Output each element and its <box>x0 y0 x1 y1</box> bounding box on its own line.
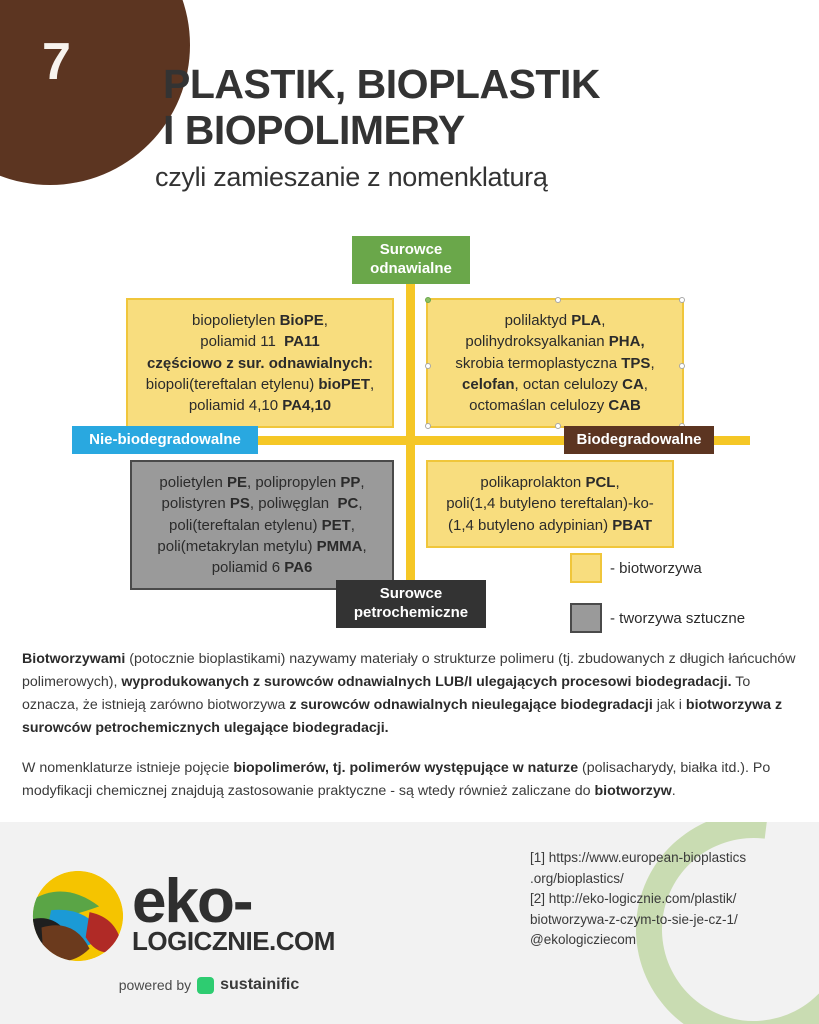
diagram-legend: - biotworzywa - tworzywa sztuczne <box>570 553 745 653</box>
page-title: PLASTIK, BIOPLASTIK I BIOPOLIMERY <box>163 62 793 154</box>
quadrant-card-top-right[interactable]: polilaktyd PLA,polihydroksyalkanian PHA,… <box>426 298 684 428</box>
legend-label-bioplastics: - biotworzywa <box>610 560 702 577</box>
corner-accent-shape <box>0 0 190 185</box>
axis-label-petrochemical-line-2: petrochemiczne <box>354 604 468 623</box>
powered-by-brand: sustainific <box>220 976 299 994</box>
selection-handle-mid-right-icon[interactable] <box>679 363 685 369</box>
axis-label-renewable-line-1: Surowce <box>370 241 452 260</box>
page-subtitle: czyli zamieszanie z nomenklaturą <box>155 162 793 193</box>
vertical-axis-line <box>406 278 415 628</box>
axis-label-renewable-line-2: odnawialne <box>370 260 452 279</box>
reference-line: .org/bioplastics/ <box>530 869 800 890</box>
legend-label-plastics: - tworzywa sztuczne <box>610 610 745 627</box>
reference-line: [1] https://www.european-bioplastics <box>530 848 800 869</box>
page-title-line-2: I BIOPOLIMERY <box>163 108 793 154</box>
selection-handle-mid-left-icon[interactable] <box>425 363 431 369</box>
body-paragraph-2: W nomenklaturze istnieje pojęcie biopoli… <box>22 757 802 803</box>
logo-name-primary: eko- <box>132 878 335 926</box>
logo-row: eko- LOGICZNIE.COM <box>30 868 370 964</box>
reference-line: @ekologicziecom <box>530 930 800 951</box>
selection-handle-top-right-icon[interactable] <box>679 297 685 303</box>
footer: eko- LOGICZNIE.COM powered by sustainifi… <box>0 822 819 1024</box>
powered-by: powered by sustainific <box>48 976 370 994</box>
selection-handle-bottom-left-icon[interactable] <box>425 423 431 429</box>
legend-swatch-yellow-icon <box>570 553 602 583</box>
title-block: PLASTIK, BIOPLASTIK I BIOPOLIMERY czyli … <box>163 62 793 193</box>
logo-name-secondary: LOGICZNIE.COM <box>132 928 335 954</box>
powered-by-label: powered by <box>119 977 191 993</box>
legend-swatch-gray-icon <box>570 603 602 633</box>
brand-logo[interactable]: eko- LOGICZNIE.COM powered by sustainifi… <box>30 868 370 994</box>
axis-label-renewable: Surowce odnawialne <box>352 236 470 284</box>
page-title-line-1: PLASTIK, BIOPLASTIK <box>163 62 793 108</box>
axis-label-biodegradable: Biodegradowalne <box>564 426 714 454</box>
body-text: Biotworzywami (potocznie bioplastikami) … <box>22 648 802 820</box>
references-list: [1] https://www.european-bioplastics .or… <box>530 848 800 951</box>
legend-item-bioplastics: - biotworzywa <box>570 553 745 583</box>
logo-wordmark: eko- LOGICZNIE.COM <box>132 878 335 954</box>
sustainific-logo-icon <box>197 977 214 994</box>
quadrant-card-bottom-left: polietylen PE, polipropylen PP,polistyre… <box>130 460 394 590</box>
axis-label-petrochemical: Surowce petrochemiczne <box>336 580 486 628</box>
axis-label-non-biodegradable: Nie-biodegradowalne <box>72 426 258 454</box>
infographic-page: 7 PLASTIK, BIOPLASTIK I BIOPOLIMERY czyl… <box>0 0 819 1024</box>
legend-item-plastics: - tworzywa sztuczne <box>570 603 745 633</box>
body-paragraph-1: Biotworzywami (potocznie bioplastikami) … <box>22 648 802 740</box>
selection-handle-top-center-icon[interactable] <box>555 297 561 303</box>
selection-handle-bottom-center-icon[interactable] <box>555 423 561 429</box>
reference-line: biotworzywa-z-czym-to-sie-je-cz-1/ <box>530 910 800 931</box>
issue-number: 7 <box>26 36 86 88</box>
quadrant-card-top-left: biopolietylen BioPE,poliamid 11 PA11częś… <box>126 298 394 428</box>
quadrant-card-bottom-right: polikaprolakton PCL,poli(1,4 butyleno te… <box>426 460 674 548</box>
axis-label-petrochemical-line-1: Surowce <box>354 585 468 604</box>
eko-logicznie-logo-icon <box>30 868 126 964</box>
quadrant-diagram: Surowce odnawialne Surowce petrochemiczn… <box>0 228 819 640</box>
reference-line: [2] http://eko-logicznie.com/plastik/ <box>530 889 800 910</box>
selection-handle-top-left-icon[interactable] <box>425 297 431 303</box>
